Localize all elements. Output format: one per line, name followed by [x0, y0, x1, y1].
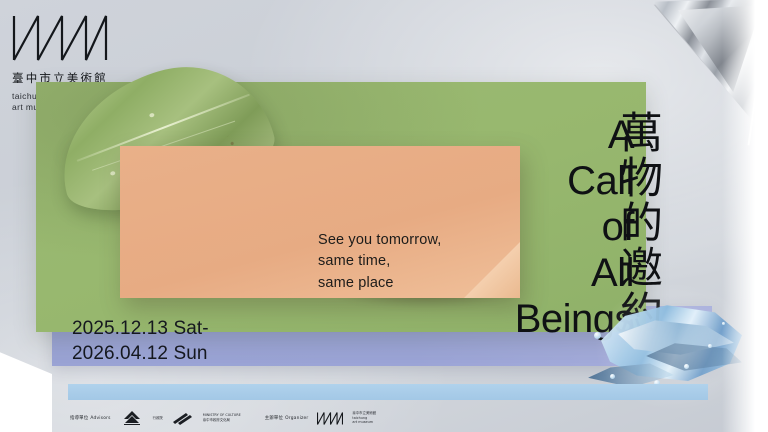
title-cn-char-1: 萬 [620, 112, 674, 157]
title-en-line-1: A [498, 112, 634, 158]
organizer-zigzag-sawtooth-logo-icon [317, 412, 343, 425]
organizer-caption-line3: art museum [352, 420, 376, 425]
date-end: 2026.04.12 Sun [72, 341, 372, 366]
organizer-label: 主辦單位Organizer [265, 415, 309, 421]
title-cn-char-3: 的 [620, 202, 674, 247]
ministry-of-culture-emblem-icon [172, 411, 194, 425]
title-en-line-2: Call [498, 158, 634, 204]
exhibition-dates: 2025.12.13 Sat- 2026.04.12 Sun [72, 316, 372, 366]
executive-yuan-emblem-icon [120, 410, 144, 426]
poster-canvas: 臺中市立美術館 taichung art museum See you tomo… [0, 0, 768, 432]
organizer-label-cn: 主辦單位 [265, 416, 283, 421]
title-cn-char-2: 物 [620, 157, 674, 202]
advisors-label: 指導單位Advisors [70, 415, 111, 421]
date-start: 2025.12.13 Sat- [72, 316, 372, 341]
advisors-label-cn: 指導單位 [70, 416, 88, 421]
advisor2-caption: MINISTRY OF CULTURE 臺中市政府文化局 [203, 413, 241, 423]
advisor1-caption: 行政院 [153, 416, 163, 421]
organizer-caption-line1: 臺中市立美術館 [352, 411, 376, 416]
organizer-caption: 臺中市立美術館 taichung art museum [352, 411, 376, 426]
title-en-line-3: of [498, 204, 634, 250]
advisor2-caption-line2: 臺中市政府文化局 [203, 418, 241, 423]
footer: 指導單位Advisors 行政院 MINISTRY OF CULTURE 臺中市… [0, 396, 768, 432]
advisors-label-en: Advisors [90, 416, 110, 421]
footer-credits: 指導單位Advisors 行政院 MINISTRY OF CULTURE 臺中市… [70, 410, 376, 426]
right-fade [722, 0, 768, 432]
organizer-label-en: Organizer [285, 416, 308, 421]
zigzag-sawtooth-logo-icon [12, 14, 108, 62]
